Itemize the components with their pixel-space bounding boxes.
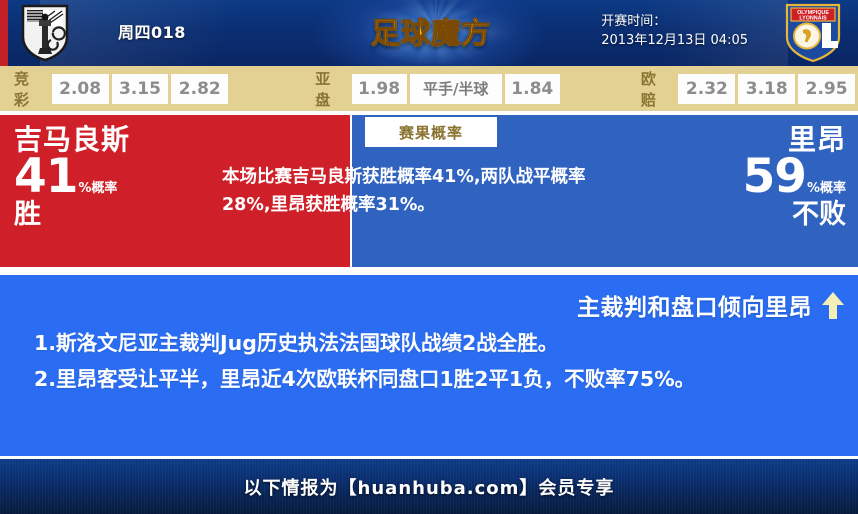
svg-text:LYONNAIS: LYONNAIS — [799, 16, 827, 22]
match-number: 周四018 — [118, 19, 186, 43]
away-team-name: 里昂 — [626, 125, 846, 155]
odds-group-asian: 亚盘 1.98 平手/半球 1.84 — [315, 68, 563, 110]
match-header: 周四018 足球魔方 开赛时间： 2013年12月13日 04:05 OLYMP… — [0, 0, 858, 66]
away-percent-line: 59 %概率 — [626, 155, 846, 199]
home-percent-suffix: %概率 — [78, 182, 117, 199]
kickoff-time: 2013年12月13日 04:05 — [601, 31, 748, 50]
footer-text: 以下情报为【huanhuba.com】会员专享 — [244, 474, 615, 500]
home-result-label: 胜 — [14, 200, 194, 230]
analysis-section: 主裁判和盘口倾向里昂 1.斯洛文尼亚主裁判Jug历史执法法国球队战绩2战全胜。 … — [0, 275, 858, 459]
odds-cell-european-away[interactable]: 2.95 — [798, 74, 855, 104]
home-probability-block: 吉马良斯 41 %概率 胜 — [14, 125, 194, 230]
home-percent-line: 41 %概率 — [14, 155, 194, 199]
kickoff-info: 开赛时间： 2013年12月13日 04:05 — [601, 12, 748, 50]
home-team-crest-icon — [20, 4, 70, 62]
odds-group-label: 欧赔 — [641, 68, 671, 110]
analysis-heading: 主裁判和盘口倾向里昂 — [577, 288, 812, 322]
odds-group-label: 亚盘 — [315, 68, 343, 110]
away-probability-block: 里昂 59 %概率 不败 — [626, 125, 846, 230]
match-analysis-card: 周四018 足球魔方 开赛时间： 2013年12月13日 04:05 OLYMP… — [0, 0, 858, 498]
odds-cell-jingcai-home[interactable]: 2.08 — [52, 74, 109, 104]
header-sheen-left — [40, 0, 340, 66]
probability-summary: 本场比赛吉马良斯获胜概率41%,两队战平概率28%,里昂获胜概率31%。 — [222, 163, 622, 219]
odds-cell-asian-home[interactable]: 1.98 — [352, 74, 407, 104]
odds-cell-asian-away[interactable]: 1.84 — [505, 74, 560, 104]
odds-bar: 竞彩 2.08 3.15 2.82 亚盘 1.98 平手/半球 1.84 欧赔 … — [0, 66, 858, 111]
kickoff-label: 开赛时间： — [601, 12, 748, 31]
away-result-label: 不败 — [626, 200, 846, 230]
odds-cell-jingcai-draw[interactable]: 3.15 — [112, 74, 169, 104]
odds-cell-european-home[interactable]: 2.32 — [678, 74, 735, 104]
analysis-heading-row: 主裁判和盘口倾向里昂 — [577, 288, 844, 322]
analysis-notes-list: 1.斯洛文尼亚主裁判Jug历史执法法国球队战绩2战全胜。 2.里昂客受让平半，里… — [34, 325, 834, 397]
tab-result-probability[interactable]: 赛果概率 — [365, 117, 497, 147]
analysis-note-item: 2.里昂客受让平半，里昂近4次欧联杯同盘口1胜2平1负，不败率75%。 — [34, 361, 834, 397]
odds-group-label: 竞彩 — [14, 68, 44, 110]
odds-cell-jingcai-away[interactable]: 2.82 — [171, 74, 228, 104]
analysis-note-item: 1.斯洛文尼亚主裁判Jug历史执法法国球队战绩2战全胜。 — [34, 325, 834, 361]
brand-logo: 足球魔方 — [362, 11, 500, 55]
odds-cell-european-draw[interactable]: 3.18 — [738, 74, 795, 104]
brand-logo-text: 足球魔方 — [371, 19, 491, 48]
home-percent-value: 41 — [14, 155, 77, 199]
away-percent-value: 59 — [743, 155, 806, 199]
arrow-up-icon — [822, 292, 844, 319]
probability-section: 吉马良斯 41 %概率 胜 赛果概率 本场比赛吉马良斯获胜概率41%,两队战平概… — [0, 115, 858, 267]
odds-cell-asian-handicap[interactable]: 平手/半球 — [410, 74, 502, 104]
header-red-accent-bar — [0, 0, 8, 66]
divider-probability-analysis — [0, 267, 858, 275]
away-team-crest-icon: OLYMPIQUE LYONNAIS — [782, 3, 844, 63]
away-percent-suffix: %概率 — [807, 182, 846, 199]
odds-group-jingcai: 竞彩 2.08 3.15 2.82 — [14, 68, 231, 110]
footer-bar: 以下情报为【huanhuba.com】会员专享 — [0, 459, 858, 514]
odds-group-european: 欧赔 2.32 3.18 2.95 — [641, 68, 858, 110]
